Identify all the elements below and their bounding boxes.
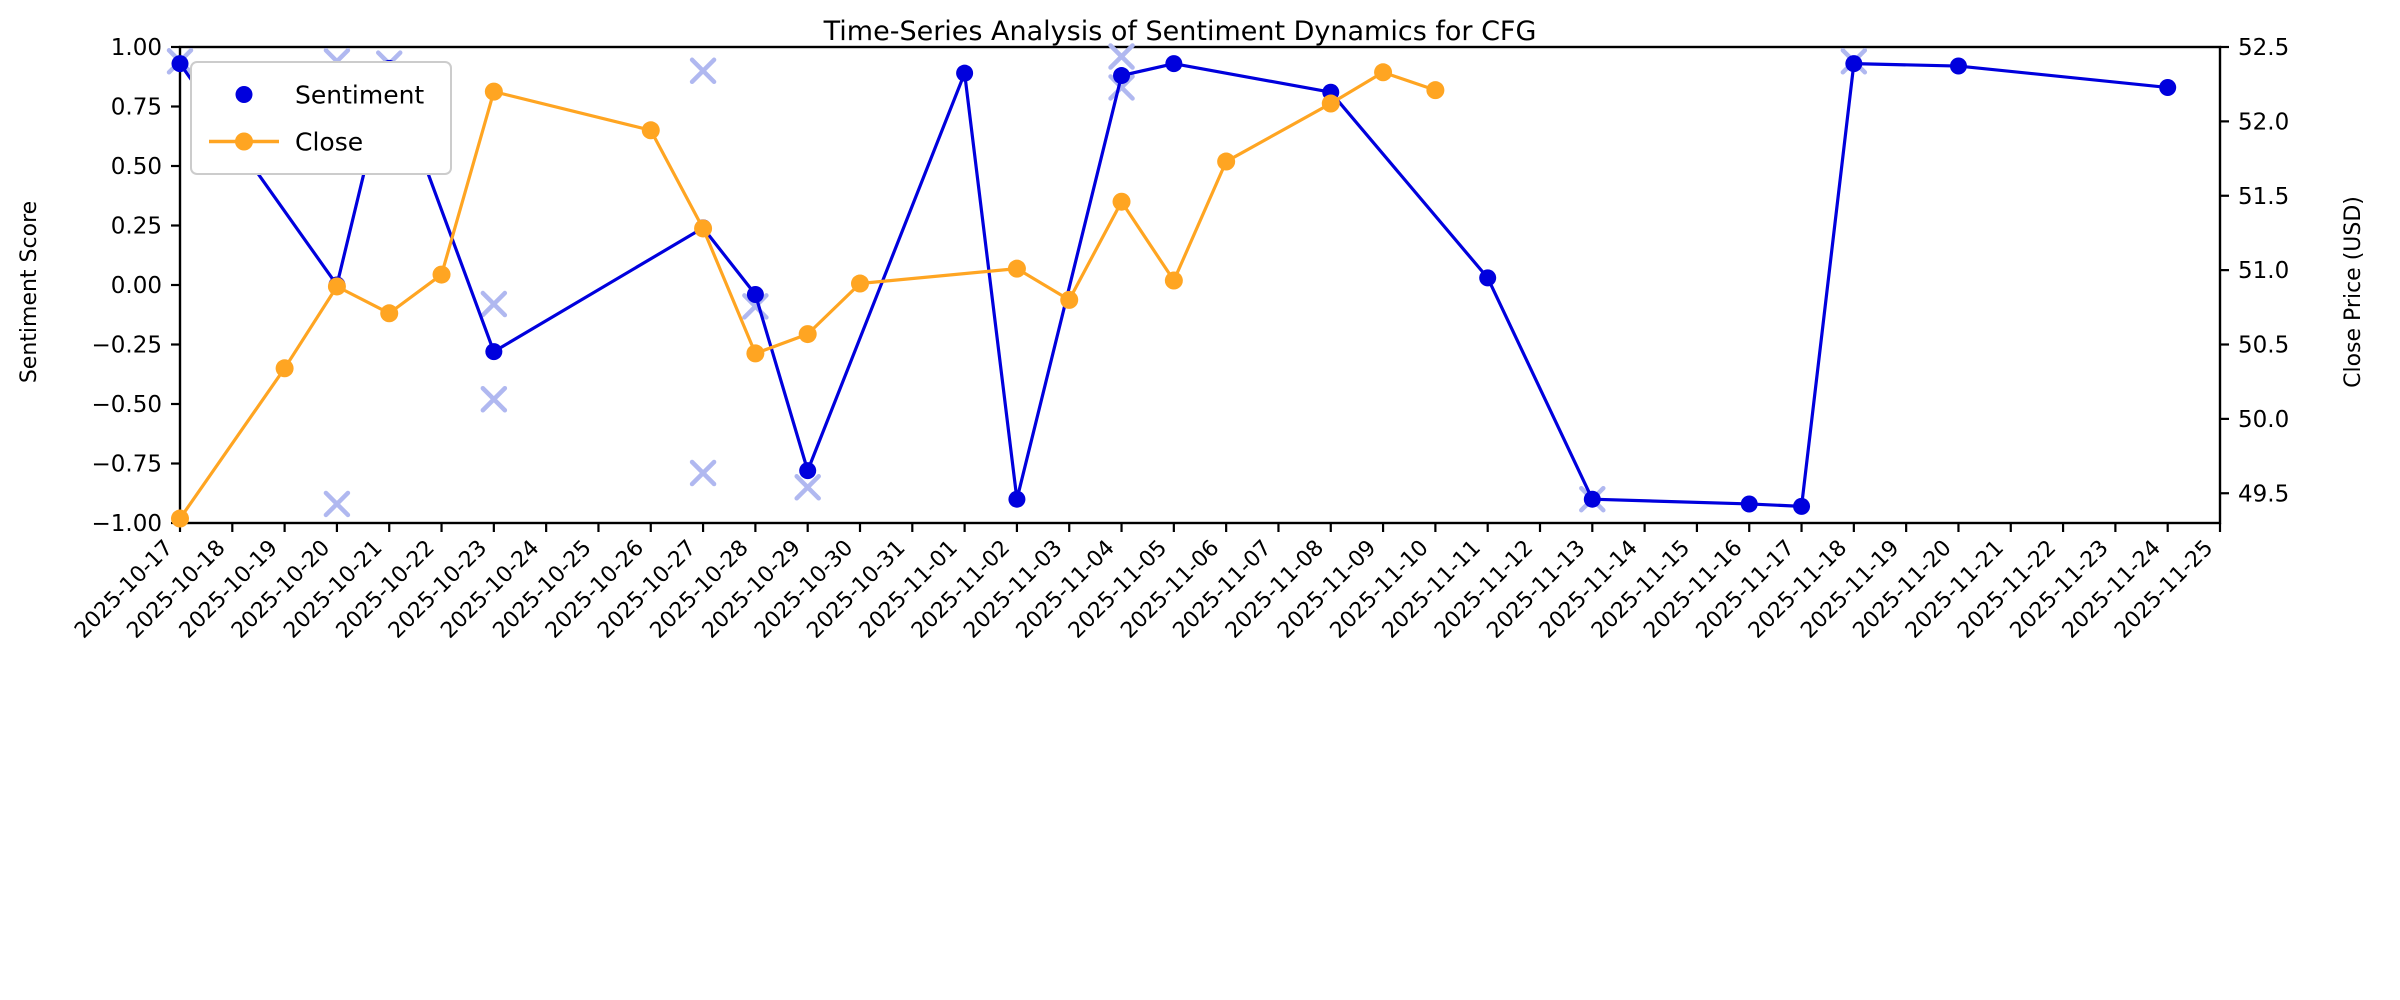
data-point (485, 343, 502, 360)
data-point (1165, 272, 1183, 290)
data-point (746, 344, 764, 362)
y2-tick-label: 52.5 (2238, 35, 2289, 61)
data-point (1793, 498, 1810, 515)
data-point (1113, 193, 1131, 211)
chart-figure: Time-Series Analysis of Sentiment Dynami… (0, 0, 2400, 1000)
data-point (1584, 491, 1601, 508)
data-point (1950, 58, 1967, 75)
data-point (747, 286, 764, 303)
legend-marker (236, 86, 253, 103)
legend-marker (235, 133, 253, 151)
y-tick-label: −0.75 (92, 452, 162, 478)
y2-tick-label: 51.0 (2238, 258, 2289, 284)
data-point (1374, 63, 1392, 81)
legend-label: Close (295, 128, 363, 157)
data-point (485, 83, 503, 101)
data-point (433, 266, 451, 284)
data-point (642, 121, 660, 139)
y-tick-label: 0.75 (111, 95, 162, 121)
y-tick-label: 0.50 (111, 154, 162, 180)
data-point (1741, 495, 1758, 512)
time-series-chart: Time-Series Analysis of Sentiment Dynami… (0, 0, 2400, 1000)
legend-label: Sentiment (295, 81, 424, 110)
data-point (2159, 79, 2176, 96)
data-point (1060, 291, 1078, 309)
data-point (1008, 491, 1025, 508)
chart-legend: SentimentClose (191, 62, 451, 174)
y-tick-label: 0.25 (111, 214, 162, 240)
y-tick-label: −0.25 (92, 333, 162, 359)
data-point (799, 462, 816, 479)
y2-axis-label: Close Price (USD) (2341, 196, 2366, 388)
legend-background (191, 62, 451, 174)
data-point (956, 65, 973, 82)
data-point (1322, 95, 1340, 113)
data-point (1165, 55, 1182, 72)
data-point (1845, 55, 1862, 72)
data-point (380, 304, 398, 322)
chart-title: Time-Series Analysis of Sentiment Dynami… (823, 16, 1537, 47)
data-point (1217, 153, 1235, 171)
data-point (171, 510, 189, 528)
data-point (851, 275, 869, 293)
data-point (1426, 81, 1444, 99)
data-point (172, 55, 189, 72)
y-tick-label: 1.00 (111, 35, 162, 61)
data-point (799, 325, 817, 343)
data-point (276, 359, 294, 377)
y2-tick-label: 52.0 (2238, 109, 2289, 135)
data-point (328, 277, 346, 295)
y2-tick-label: 51.5 (2238, 184, 2289, 210)
y-tick-label: −1.00 (92, 511, 162, 537)
y2-tick-label: 50.5 (2238, 333, 2289, 359)
y-tick-label: −0.50 (92, 392, 162, 418)
y-axis-label: Sentiment Score (17, 201, 42, 383)
y2-tick-label: 50.0 (2238, 407, 2289, 433)
data-point (1008, 260, 1026, 278)
data-point (1113, 67, 1130, 84)
y-tick-label: 0.00 (111, 273, 162, 299)
y2-tick-label: 49.5 (2238, 481, 2289, 507)
data-point (1479, 269, 1496, 286)
data-point (694, 219, 712, 237)
